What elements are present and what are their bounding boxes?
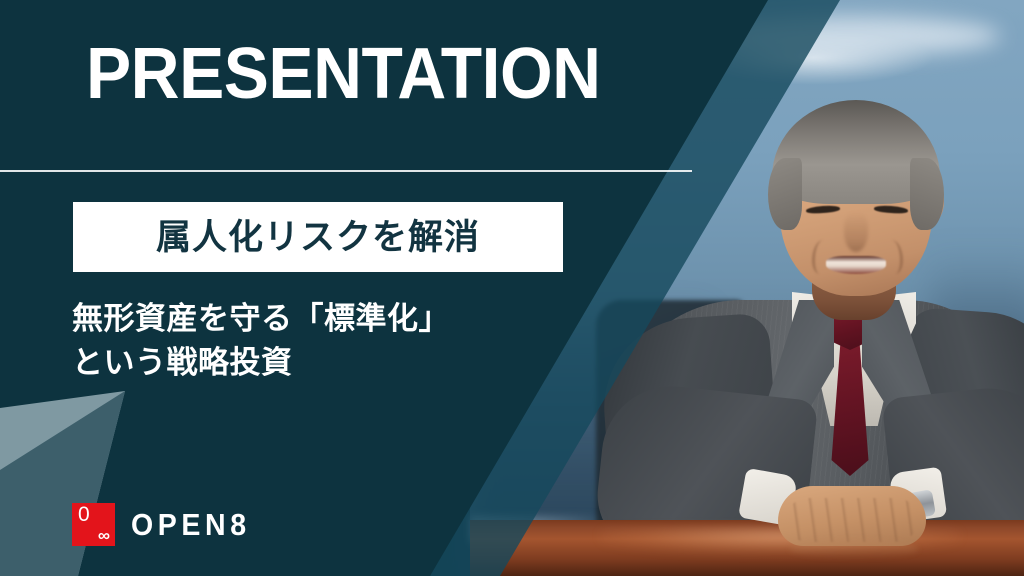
headline-highlight-box: 属人化リスクを解消	[73, 202, 563, 272]
open8-logo: 0 ∞ OPEN8	[72, 503, 261, 546]
presentation-slide: PRESENTATION 属人化リスクを解消 無形資産を守る「標準化」 という戦…	[0, 0, 1024, 576]
subtitle-text: 無形資産を守る「標準化」 という戦略投資	[72, 297, 450, 385]
title-divider	[0, 170, 692, 172]
logo-zero-glyph: 0	[78, 504, 90, 525]
headline-text: 属人化リスクを解消	[156, 220, 480, 255]
logo-infinity-icon: ∞	[98, 527, 110, 544]
logo-mark-icon: 0 ∞	[72, 503, 115, 546]
page-title: PRESENTATION	[86, 38, 601, 110]
logo-wordmark: OPEN8	[131, 509, 251, 540]
slide-content: PRESENTATION 属人化リスクを解消 無形資産を守る「標準化」 という戦…	[0, 0, 1024, 576]
